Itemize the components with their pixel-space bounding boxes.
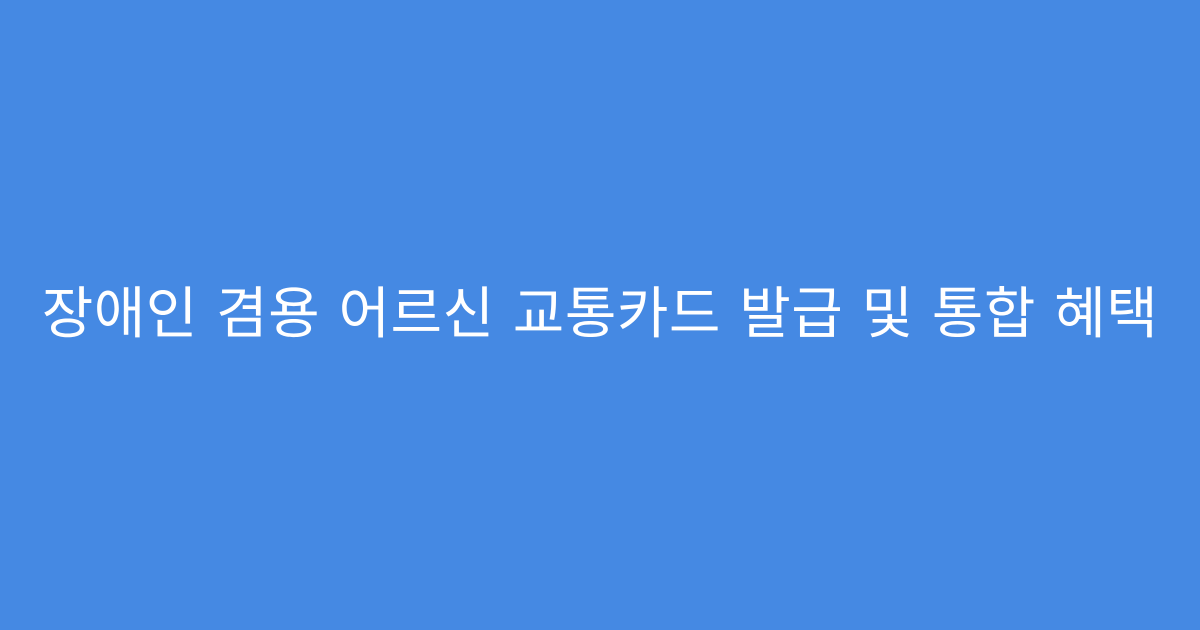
- social-share-card: 장애인 겸용 어르신 교통카드 발급 및 통합 혜택: [0, 0, 1200, 630]
- card-headline: 장애인 겸용 어르신 교통카드 발급 및 통합 혜택: [42, 279, 1159, 351]
- card-content-container: 장애인 겸용 어르신 교통카드 발급 및 통합 혜택: [0, 279, 1200, 351]
